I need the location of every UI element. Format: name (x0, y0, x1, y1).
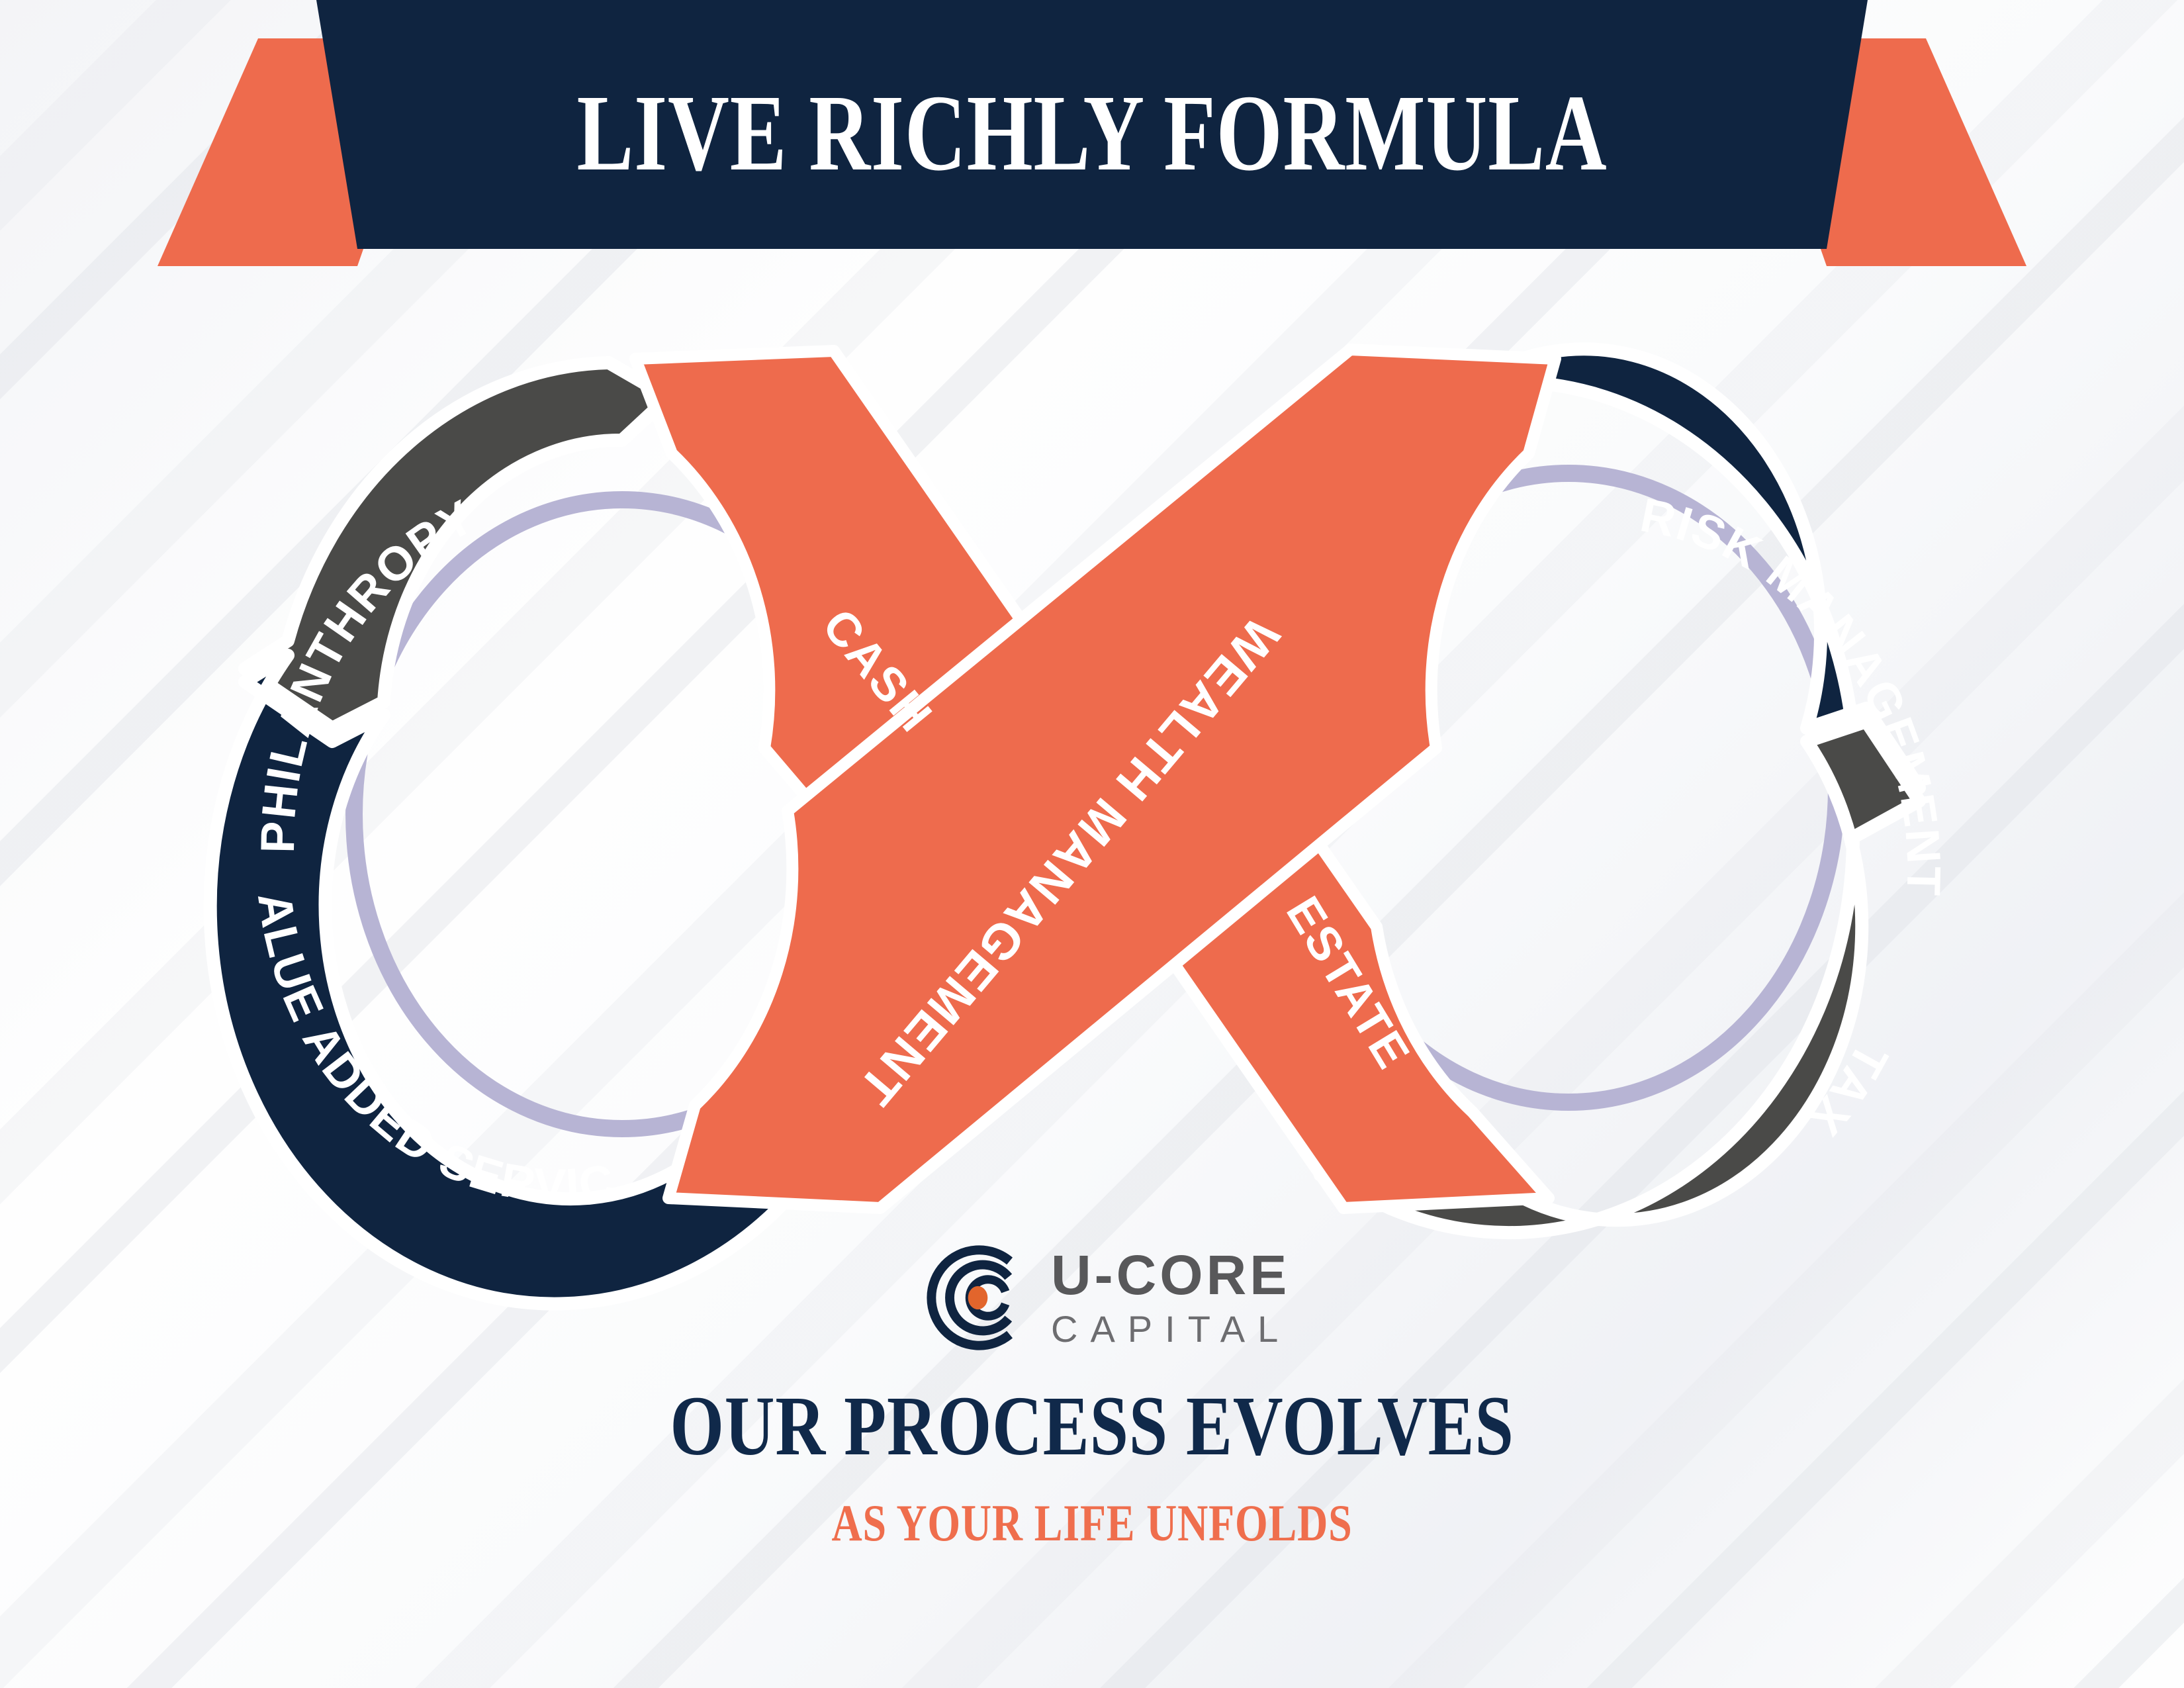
logo-subtitle: CAPITAL (1051, 1311, 1291, 1348)
page-title: LIVE RICHLY FORMULA (240, 78, 1944, 187)
footer-subhead: AS YOUR LIFE UNFOLDS (197, 1497, 1987, 1549)
concentric-c-icon (917, 1237, 1039, 1359)
footer-headline: OUR PROCESS EVOLVES (197, 1383, 1987, 1468)
logo-wordmark: U-CORE (1051, 1247, 1291, 1303)
live-richly-infinity-diagram: PHILANTHROPY VALUE ADDED SERVICE RISK MA… (159, 311, 2038, 1251)
header-banner: LIVE RICHLY FORMULA (0, 0, 2184, 278)
logo-center-dot (968, 1286, 988, 1309)
footer-block: OUR PROCESS EVOLVES AS YOUR LIFE UNFOLDS (0, 1383, 2184, 1549)
infographic-canvas: LIVE RICHLY FORMULA (0, 0, 2184, 1688)
brand-logo[interactable]: U-CORE CAPITAL (917, 1228, 1287, 1367)
segment-label-risk-management: RISK MANAGEMENT (1636, 489, 1950, 898)
